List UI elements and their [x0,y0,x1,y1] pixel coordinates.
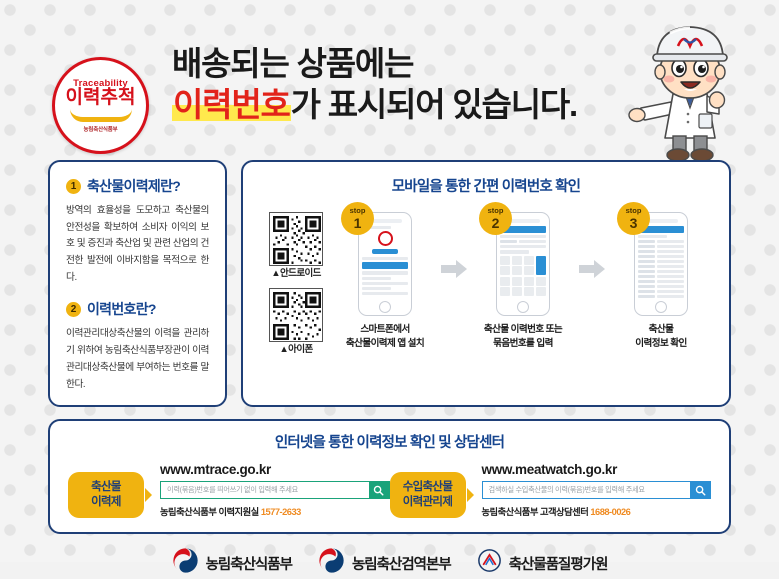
meatwatch-search-icon[interactable] [690,482,710,498]
poster-root: Traceability 이력추적 농림축산식품부 배송되는 상품에는 이력번호… [0,0,779,562]
definition-title: 축산물이력제란? [87,176,180,196]
iphone-qr-icon[interactable] [269,288,323,342]
meatwatch-tag-line-2: 이력관리제 [403,495,452,510]
traceability-badge: Traceability 이력추적 농림축산식품부 [52,57,149,154]
phone-line [638,235,667,238]
footer-logo-ekape-text: 축산물품질평가원 [509,553,608,574]
phone-result-row [638,270,684,273]
definition-body: 방역의 효율성을 도모하고 축산물의 안전성을 확보하여 소비자 이익의 보호 … [66,203,209,286]
phone-banner [362,262,408,269]
meatwatch-search-bar[interactable]: 검색하실 수입축산물의 이력(묶음)번호를 입력해 주세요 [482,481,712,499]
definition-number-badge: 2 [66,302,81,317]
headline-line-1: 배송되는 상품에는 [172,46,577,83]
meatwatch-info: www.meatwatch.go.kr 검색하실 수입축산물의 이력(묶음)번호… [466,462,712,518]
mobile-guide-card: 모바일을 통한 간편 이력번호 확인 [241,160,731,407]
step-2: stop 2 [471,206,575,352]
phone-line [362,282,408,285]
mtrace-tag: 축산물 이력제 [68,472,144,518]
meatwatch-call-number: 1688-0026 [590,507,630,517]
iphone-qr-label: ▲아이폰 [279,341,312,355]
mtrace-url[interactable]: www.mtrace.go.kr [160,462,390,477]
phone-result-row [638,285,684,288]
taegeuk-icon [172,547,199,579]
qr-iphone-group: ▲아이폰 [269,288,323,355]
definition-body: 이력관리대상축산물의 이력을 관리하기 위하여 농림축산식품부장관이 이력관리대… [66,326,209,393]
definition-number-badge: 1 [66,179,81,194]
phone-line [362,277,391,280]
contact-columns: 축산물 이력제 www.mtrace.go.kr 이력(묶음)번호를 띄어쓰기 … [68,462,711,518]
arrow-2-icon [575,206,609,278]
step-1: stop 1 [333,206,437,352]
headline-line-2-rest: 가 표시되어 있습니다. [291,86,577,123]
contact-column-mtrace: 축산물 이력제 www.mtrace.go.kr 이력(묶음)번호를 띄어쓰기 … [68,462,390,518]
phone-result-row [638,275,684,278]
inspector-mascot-icon [615,16,765,166]
footer-logo-mafra: 농림축산식품부 [172,547,292,579]
contact-panel-title: 인터넷을 통한 이력정보 확인 및 상담센터 [68,431,711,452]
android-qr-icon[interactable] [269,212,323,266]
step-2-badge: stop 2 [479,202,512,235]
mtrace-search-bar[interactable]: 이력(묶음)번호를 띄어쓰기 없이 입력해 주세요 [160,481,390,499]
meatwatch-call-label: 농림축산식품부 고객상담센터 [482,507,589,517]
footer-logo-mafra-text: 농림축산식품부 [206,553,292,574]
mtrace-tag-line-1: 축산물 [91,480,121,495]
meatwatch-call-info: 농림축산식품부 고객상담센터 1688-0026 [482,504,712,518]
arrow-1-icon [437,206,471,278]
mobile-guide-title: 모바일을 통한 간편 이력번호 확인 [255,175,717,196]
phone-result-row [638,245,684,248]
qr-android-group: ▲안드로이드 [269,212,323,279]
mtrace-search-icon[interactable] [369,482,389,498]
phone-result-row [638,240,684,243]
phone-result-row [638,260,684,263]
phone-line [500,245,546,248]
mtrace-tag-line-2: 이력제 [91,495,121,510]
step-1-label: 스마트폰에서축산물이력제 앱 설치 [346,323,424,352]
phone-line [362,292,408,295]
step-3: stop 3 [609,206,713,352]
phone-install-button [372,249,397,254]
meatwatch-search-input[interactable]: 검색하실 수입축산물의 이력(묶음)번호를 입력해 주세요 [483,482,691,498]
footer-logos: 농림축산식품부 농림축산검역본부 축산물품질평가원 [0,547,779,579]
definition-heading: 2 이력번호란? [66,299,209,319]
contact-panel: 인터넷을 통한 이력정보 확인 및 상담센터 축산물 이력제 www.mtrac… [48,419,731,534]
step-3-word: stop [626,207,642,215]
step-2-label: 축산물 이력번호 또는묶음번호를 입력 [484,323,562,352]
step-3-badge: stop 3 [617,202,650,235]
definition-heading: 1 축산물이력제란? [66,176,209,196]
phone-result-row [638,255,684,258]
meatwatch-url[interactable]: www.meatwatch.go.kr [482,462,712,477]
footer-logo-qia-text: 농림축산검역본부 [352,553,451,574]
step-1-number: 1 [354,216,362,230]
phone-result-row [638,290,684,293]
definition-item: 2 이력번호란? 이력관리대상축산물의 이력을 관리하기 위하여 농림축산식품부… [66,299,209,393]
mtrace-search-input[interactable]: 이력(묶음)번호를 띄어쓰기 없이 입력해 주세요 [161,482,369,498]
step-1-badge: stop 1 [341,202,374,235]
mtrace-info: www.mtrace.go.kr 이력(묶음)번호를 띄어쓰기 없이 입력해 주… [144,462,390,518]
mobile-steps-flow: ▲안드로이드 [255,206,717,355]
footer-logo-qia: 농림축산검역본부 [318,547,451,579]
phone-app-seal-icon [378,231,393,246]
mtrace-call-label: 농림축산식품부 이력지원실 [160,507,259,517]
headline-line-2: 이력번호가 표시되어 있습니다. [172,87,577,124]
badge-arc-decoration [70,109,132,122]
header: Traceability 이력추적 농림축산식품부 배송되는 상품에는 이력번호… [0,0,779,160]
phone-row [500,240,546,243]
phone-line [362,257,408,260]
mtrace-call-info: 농림축산식품부 이력지원실 1577-2633 [160,504,390,518]
step-3-number: 3 [630,216,638,230]
phone-line [362,271,408,274]
footer-logo-ekape: 축산물품질평가원 [477,548,608,578]
info-cards-row: 1 축산물이력제란? 방역의 효율성을 도모하고 축산물의 안전성을 확보하여 … [0,160,779,407]
phone-result-row [638,280,684,283]
meatwatch-tag-line-1: 수입축산물 [403,480,452,495]
qr-code-column: ▲안드로이드 [259,206,333,355]
step-2-word: stop [488,207,504,215]
phone-result-row [638,250,684,253]
badge-ministry-label: 농림축산식품부 [83,125,117,133]
definition-item: 1 축산물이력제란? 방역의 효율성을 도모하고 축산물의 안전성을 확보하여 … [66,176,209,286]
headline-highlight: 이력번호 [172,86,291,123]
apqa-icon [477,548,502,578]
mtrace-call-number: 1577-2633 [261,507,301,517]
phone-result-row [638,295,684,298]
phone-keypad [500,256,546,297]
step-1-word: stop [350,207,366,215]
meatwatch-tag: 수입축산물 이력관리제 [390,472,466,518]
phone-line [500,235,546,238]
step-2-number: 2 [492,216,500,230]
step-3-label: 축산물이력정보 확인 [635,323,686,352]
phone-line [500,250,529,253]
android-qr-label: ▲안드로이드 [271,265,321,279]
taegeuk-icon [318,547,345,579]
phone-result-row [638,265,684,268]
badge-korean-label: 이력추적 [66,88,136,108]
phone-line [362,287,391,290]
definitions-card: 1 축산물이력제란? 방역의 효율성을 도모하고 축산물의 안전성을 확보하여 … [48,160,227,407]
contact-column-meatwatch: 수입축산물 이력관리제 www.meatwatch.go.kr 검색하실 수입축… [390,462,712,518]
page-title: 배송되는 상품에는 이력번호가 표시되어 있습니다. [172,46,577,124]
definition-title: 이력번호란? [87,299,156,319]
